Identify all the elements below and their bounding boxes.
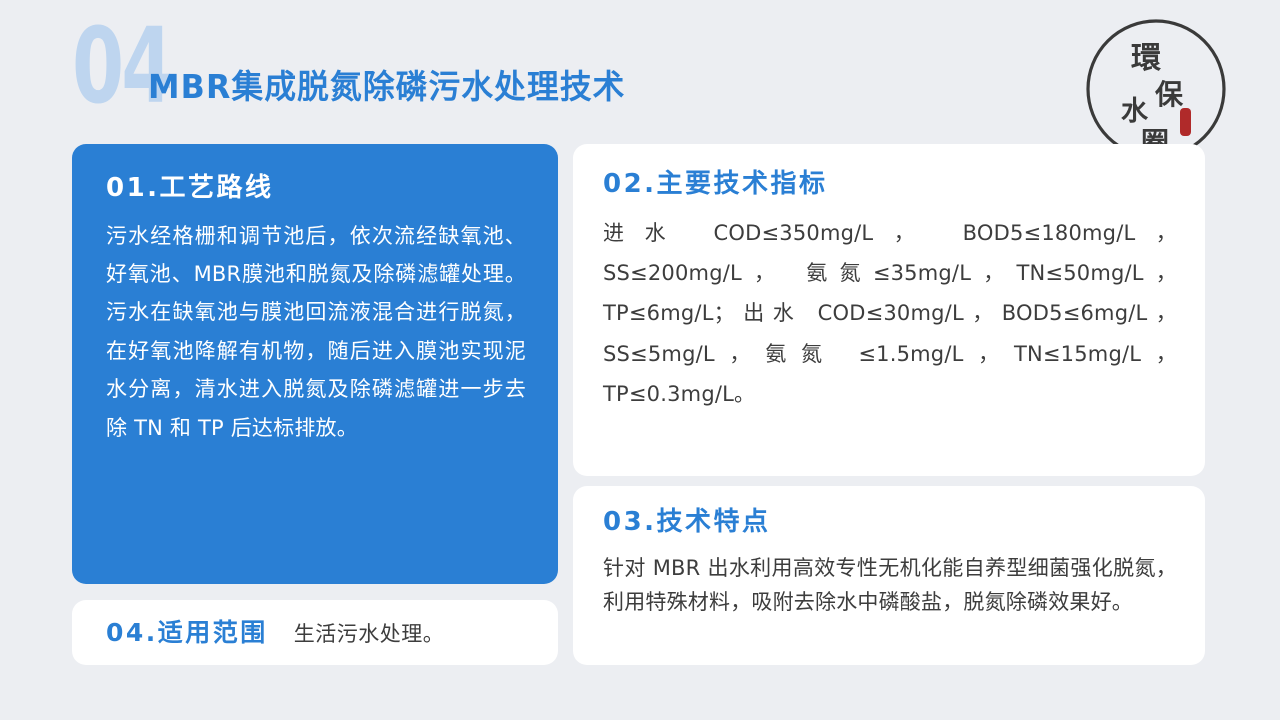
card-technical-metrics: 02.主要技术指标 进水 COD≤350mg/L， BOD5≤180mg/L，S…: [573, 144, 1205, 476]
seal-char-shui: 水: [1121, 96, 1149, 127]
card-process-body: 污水经格栅和调节池后，依次流经缺氧池、好氧池、MBR膜池和脱氮及除磷滤罐处理。污…: [106, 217, 526, 448]
card-technical-features: 03.技术特点 针对 MBR 出水利用高效专性无机化能自养型细菌强化脱氮，利用特…: [573, 486, 1205, 665]
card-metrics-body: 进水 COD≤350mg/L， BOD5≤180mg/L，SS≤200mg/L，…: [603, 213, 1177, 415]
card-metrics-heading: 02.主要技术指标: [603, 170, 1177, 199]
card-features-heading: 03.技术特点: [603, 508, 1177, 537]
page-title: MBR集成脱氮除磷污水处理技术: [148, 60, 626, 108]
brand-seal-logo: 環 保 水 圈: [1083, 16, 1229, 162]
card-process-route: 01.工艺路线 污水经格栅和调节池后，依次流经缺氧池、好氧池、MBR膜池和脱氮及…: [72, 144, 558, 584]
card-features-body: 针对 MBR 出水利用高效专性无机化能自养型细菌强化脱氮，利用特殊材料，吸附去除…: [603, 551, 1177, 621]
slide-canvas: 04 MBR集成脱氮除磷污水处理技术 環 保 水 圈 01.工艺路线 污水经格栅…: [0, 0, 1280, 720]
card-application-scope: 04.适用范围 生活污水处理。: [72, 600, 558, 665]
seal-char-bao: 保: [1155, 78, 1184, 111]
card-scope-heading: 04.适用范围: [106, 619, 268, 647]
red-seal-mark: [1180, 108, 1191, 136]
seal-char-huan: 環: [1131, 41, 1162, 76]
card-process-heading: 01.工艺路线: [106, 174, 526, 203]
card-scope-body: 生活污水处理。: [294, 618, 445, 648]
